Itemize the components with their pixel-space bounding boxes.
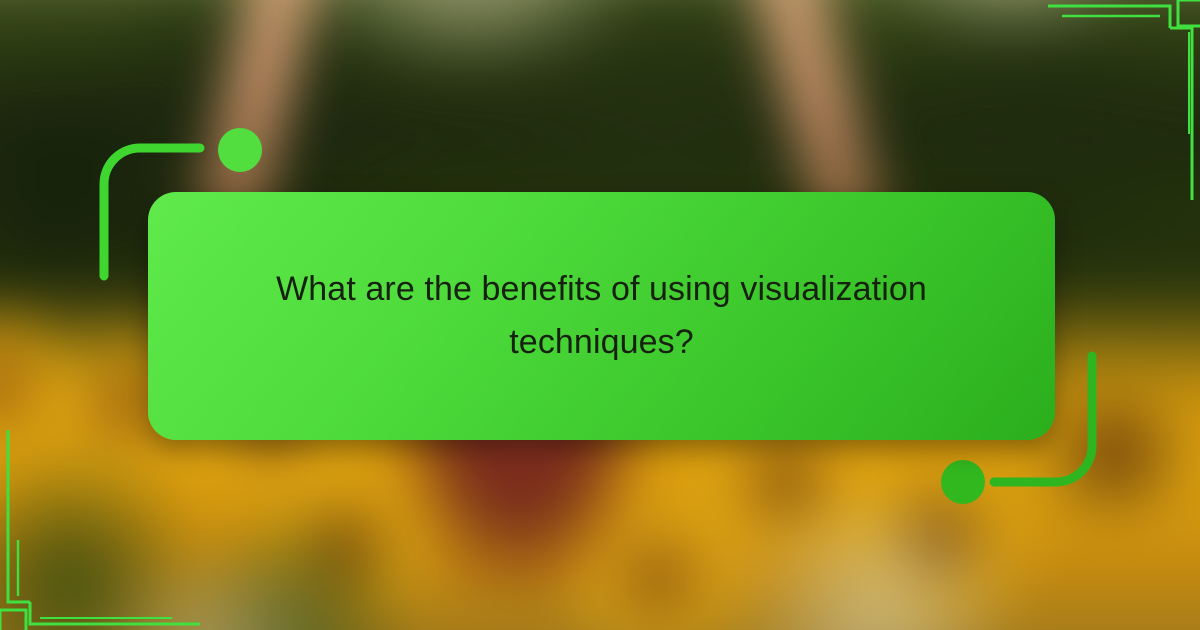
quote-text: What are the benefits of using visualiza… bbox=[232, 263, 972, 368]
accent-dot-top-left bbox=[218, 128, 262, 172]
accent-dot-bottom-right bbox=[941, 460, 985, 504]
quote-card: What are the benefits of using visualiza… bbox=[148, 192, 1055, 440]
circuit-corner-top-right bbox=[1000, 0, 1200, 200]
circuit-corner-bottom-left bbox=[0, 430, 200, 630]
quote-card-canvas: What are the benefits of using visualiza… bbox=[0, 0, 1200, 630]
